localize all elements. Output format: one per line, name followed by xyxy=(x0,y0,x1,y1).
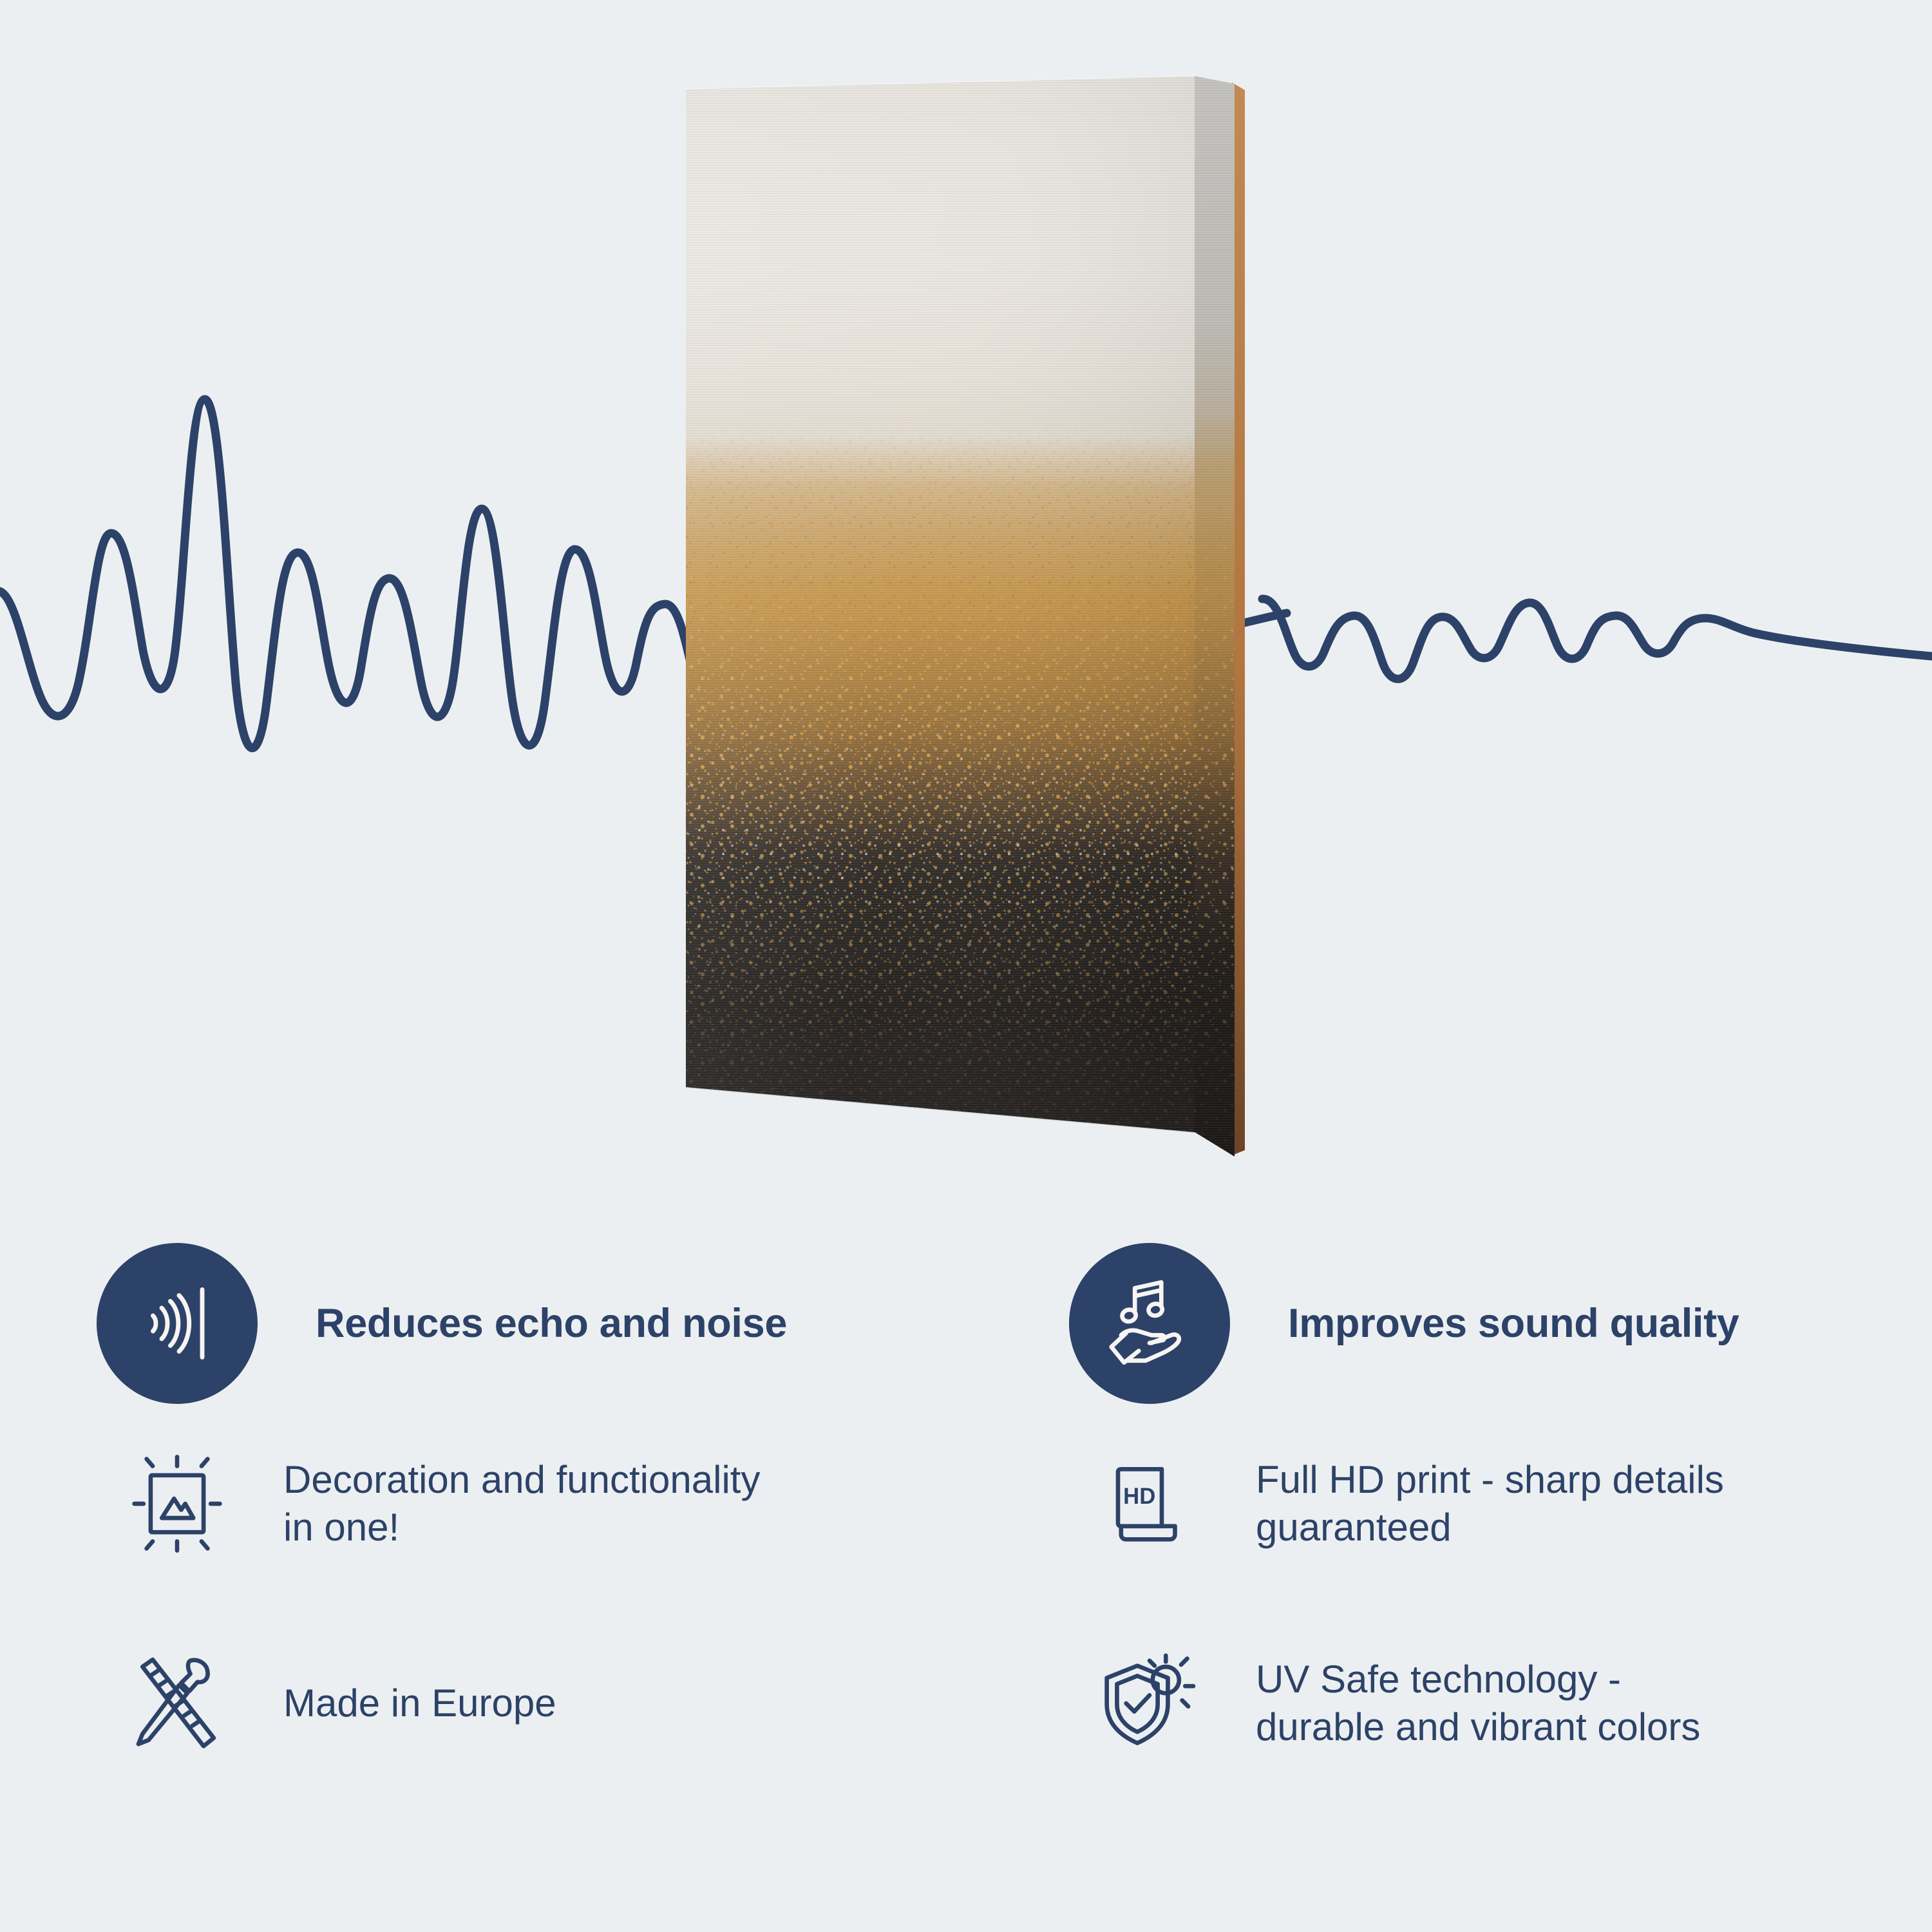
feature-label-line2: guaranteed xyxy=(1256,1504,1724,1551)
feature-full-hd-print[interactable]: HD Full HD print - sharp details guarant… xyxy=(1069,1404,1932,1604)
feature-label: UV Safe technology - durable and vibrant… xyxy=(1256,1656,1700,1752)
feature-uv-safe-technology[interactable]: UV Safe technology - durable and vibrant… xyxy=(1069,1604,1932,1803)
feature-label-line1: Decoration and functionality xyxy=(283,1456,760,1504)
feature-decoration-functionality[interactable]: Decoration and functionality in one! xyxy=(97,1404,1018,1604)
sound-wave-right-path xyxy=(1262,599,1932,679)
sound-waves-panel-icon xyxy=(97,1243,258,1404)
feature-label: Improves sound quality xyxy=(1288,1300,1739,1347)
feature-label: Decoration and functionality in one! xyxy=(283,1456,760,1552)
ruler-hammer-icon xyxy=(119,1645,235,1761)
feature-label-line1: UV Safe technology - xyxy=(1256,1656,1700,1703)
feature-list: Reduces echo and noise xyxy=(0,1243,1932,1887)
svg-text:HD: HD xyxy=(1123,1484,1155,1509)
canvas-front-face xyxy=(679,76,1246,1209)
feature-label: Full HD print - sharp details guaranteed xyxy=(1256,1456,1724,1552)
hd-print-icon: HD xyxy=(1092,1446,1207,1562)
acoustic-canvas-panel xyxy=(679,76,1246,1209)
feature-label-line2: in one! xyxy=(283,1504,760,1551)
feature-label-line2: durable and vibrant colors xyxy=(1256,1703,1700,1751)
feature-column-right: Improves sound quality HD Full HD print … xyxy=(1069,1243,1932,1803)
feature-label: Made in Europe xyxy=(283,1680,556,1727)
feature-column-left: Reduces echo and noise xyxy=(97,1243,1018,1803)
framed-picture-shine-icon xyxy=(119,1446,235,1562)
feature-reduces-echo[interactable]: Reduces echo and noise xyxy=(97,1243,1018,1404)
uv-shield-sun-icon xyxy=(1092,1645,1207,1761)
feature-label-line1: Full HD print - sharp details xyxy=(1256,1456,1724,1504)
feature-label-line1: Made in Europe xyxy=(283,1680,556,1727)
music-note-in-hand-icon xyxy=(1069,1243,1230,1404)
feature-label: Reduces echo and noise xyxy=(316,1300,787,1347)
feature-made-in-europe[interactable]: Made in Europe xyxy=(97,1604,1018,1803)
feature-improves-sound-quality[interactable]: Improves sound quality xyxy=(1069,1243,1932,1404)
infographic-root: Reduces echo and noise xyxy=(0,0,1932,1932)
